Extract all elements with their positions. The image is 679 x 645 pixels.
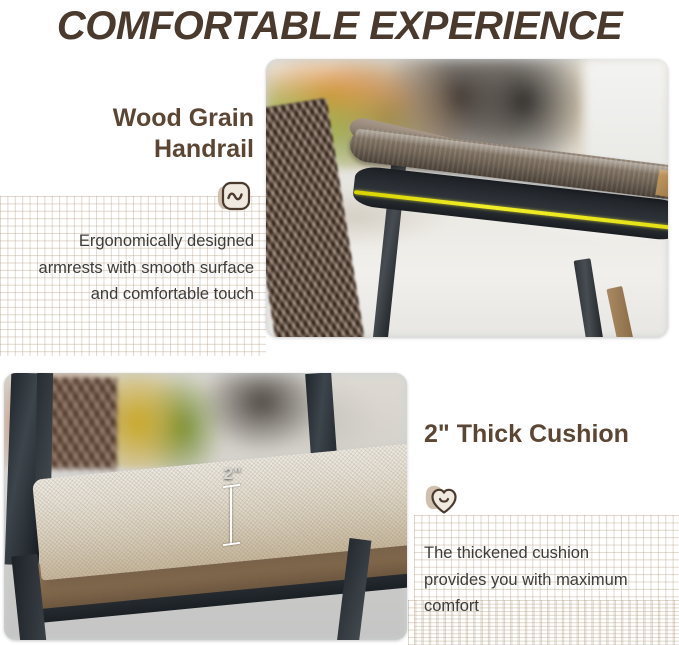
- feature-body-cushion-line2: provides you with maximum: [424, 567, 669, 594]
- handrail-photo-scene: [266, 59, 668, 337]
- wave-icon: [214, 180, 252, 218]
- feature-body-handrail-line3: and comfortable touch: [8, 281, 254, 308]
- feature-body-handrail-line2: armrests with smooth surface: [8, 255, 254, 282]
- page-headline: COMFORTABLE EXPERIENCE: [0, 0, 679, 52]
- handrail-armrest-tip: [655, 169, 668, 200]
- feature-body-cushion-line1: The thickened cushion: [424, 540, 669, 567]
- feature-title-handrail: Wood Grain Handrail: [10, 103, 254, 164]
- cushion-dimension-label: 2": [224, 464, 243, 484]
- heart-icon: [424, 481, 462, 519]
- feature-title-cushion: 2" Thick Cushion: [424, 419, 674, 450]
- feature-body-handrail-line1: Ergonomically designed: [8, 228, 254, 255]
- feature-title-handrail-line2: Handrail: [10, 134, 254, 165]
- cushion-photo-scene: 2": [4, 373, 407, 640]
- feature-body-cushion: The thickened cushion provides you with …: [424, 540, 669, 620]
- feature-body-handrail: Ergonomically designed armrests with smo…: [8, 228, 254, 308]
- handrail-photo: [266, 59, 668, 337]
- cushion-dimension-line: [230, 485, 232, 545]
- feature-body-cushion-line3: comfort: [424, 593, 669, 620]
- feature-title-handrail-line1: Wood Grain: [10, 103, 254, 134]
- cushion-photo: 2": [4, 373, 407, 640]
